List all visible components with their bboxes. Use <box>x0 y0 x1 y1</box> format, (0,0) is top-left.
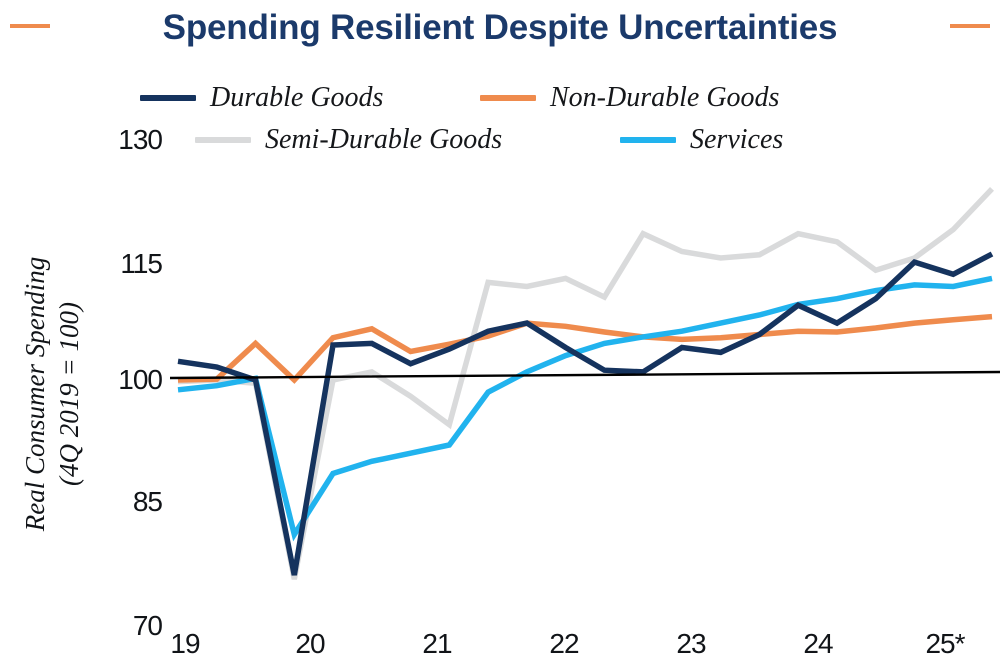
chart-canvas <box>0 0 1000 667</box>
x-tick-20: 20 <box>275 628 345 660</box>
x-tick-24: 24 <box>783 628 853 660</box>
y-axis-title: Real Consumer Spending (4Q 2019 = 100) <box>18 229 86 559</box>
y-tick-115: 115 <box>100 248 162 280</box>
y-axis-title-line2: (4Q 2019 = 100) <box>54 302 84 486</box>
series-line-durable-goods <box>178 254 992 575</box>
x-tick-22: 22 <box>529 628 599 660</box>
x-tick-23: 23 <box>656 628 726 660</box>
x-tick-19: 19 <box>150 628 220 660</box>
series-layer <box>178 189 992 579</box>
x-tick-25: 25* <box>910 628 980 660</box>
y-tick-85: 85 <box>100 486 162 518</box>
y-tick-130: 130 <box>100 124 162 156</box>
y-tick-100: 100 <box>100 364 162 396</box>
chart-plot-area: 130 115 100 85 70 19 20 21 22 23 24 25* … <box>0 0 1000 667</box>
series-line-services <box>178 278 992 534</box>
x-tick-21: 21 <box>402 628 472 660</box>
baseline-100-line <box>170 372 1000 378</box>
y-axis-title-line1: Real Consumer Spending <box>20 257 50 531</box>
